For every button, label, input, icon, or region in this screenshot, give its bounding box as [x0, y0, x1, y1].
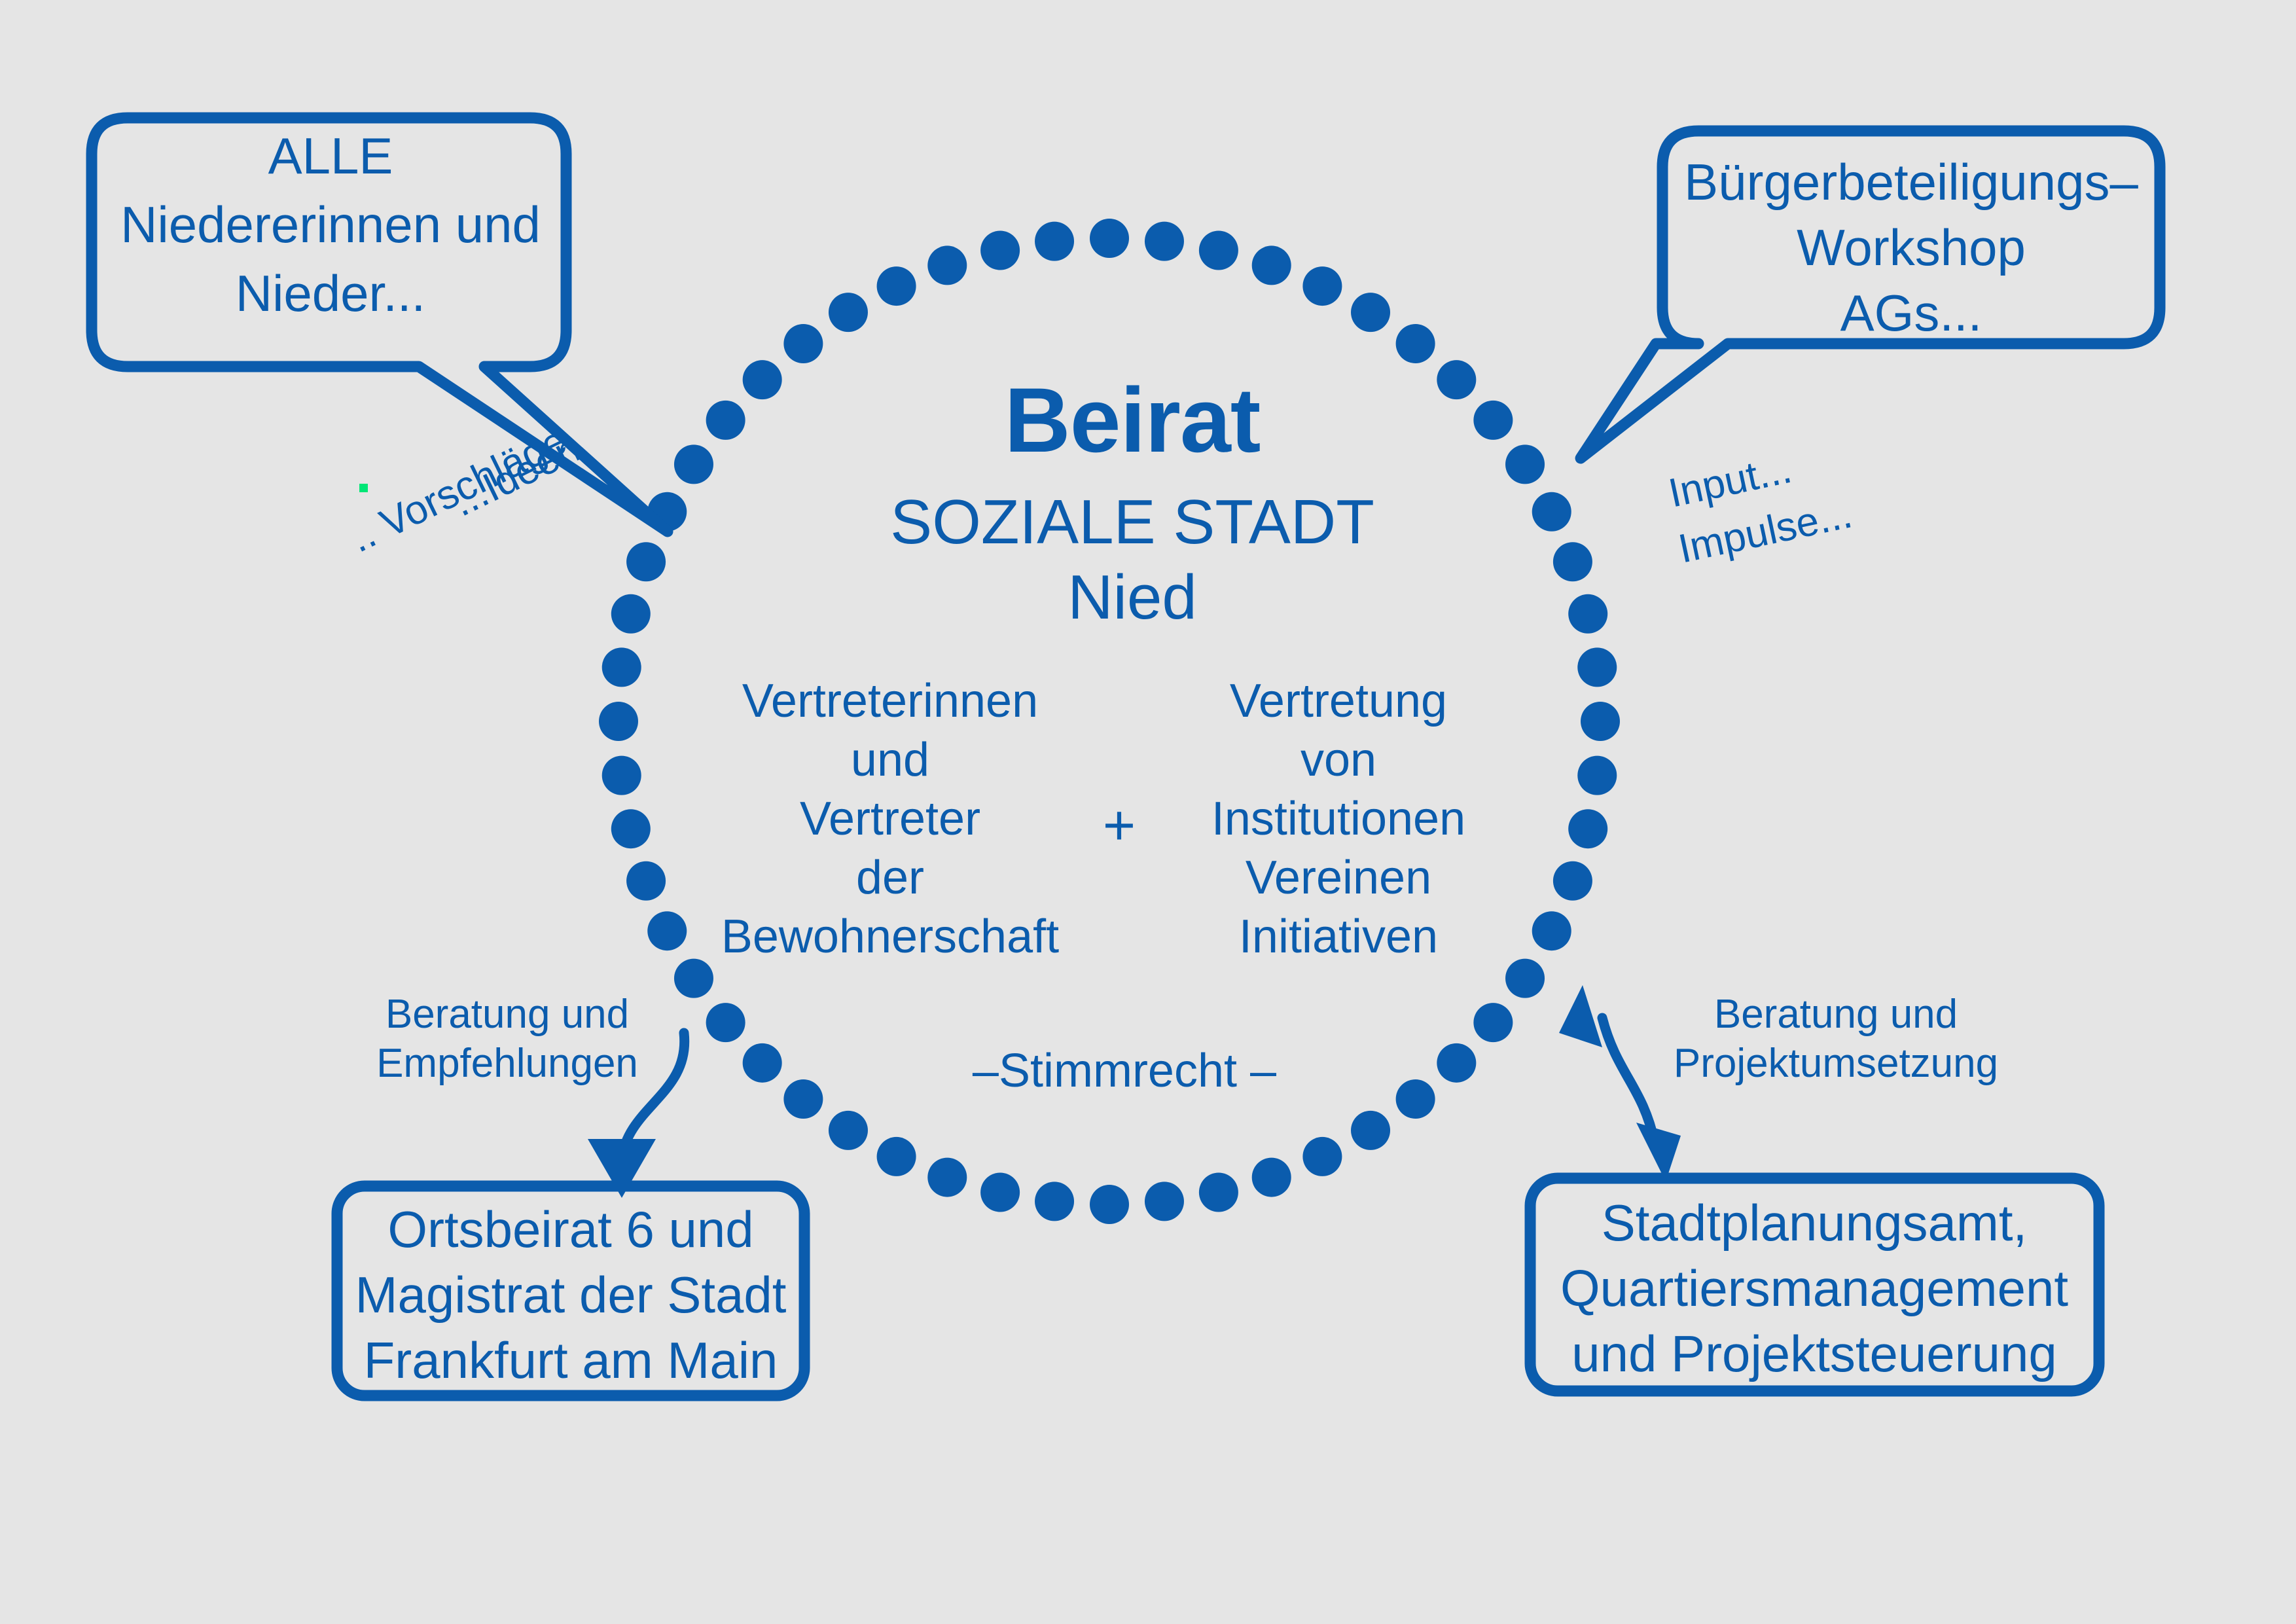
ring-dot [743, 1043, 782, 1083]
ring-dot [602, 647, 641, 687]
stimmrecht-note: –Stimmrecht – [973, 1045, 1277, 1097]
ring-dot [1035, 1182, 1074, 1221]
ring-dot [927, 1158, 967, 1197]
ring-dot [1396, 324, 1435, 363]
label-beratung-empfehlungen-line-2: Empfehlungen [376, 1041, 638, 1086]
ring-dot [1437, 360, 1476, 399]
ring-dot [1437, 1043, 1476, 1083]
right-column-line-3: Institutionen [1211, 793, 1465, 845]
ring-dot [1090, 219, 1129, 258]
ring-dot [1090, 1185, 1129, 1224]
left-column-line-1: Vertreterinnen [742, 675, 1038, 727]
ring-dot [783, 1079, 823, 1119]
ring-dot [743, 360, 782, 399]
ring-dot [1351, 293, 1390, 332]
speech-bubble-buergerbeteiligung[interactable]: Bürgerbeteiligungs– Workshop AGs... [1581, 131, 2160, 458]
box-ortsbeirat-line-1: Ortsbeirat 6 und [387, 1200, 753, 1258]
ring-dot [1035, 222, 1074, 261]
label-beratung-projektumsetzung-line-2: Projektumsetzung [1674, 1041, 1998, 1086]
diagram-canvas: Beirat SOZIALE STADT Nied Vertreterinnen… [0, 0, 2296, 1624]
ring-dot [1145, 1182, 1184, 1221]
ring-dot [1577, 647, 1617, 687]
right-column-line-5: Initiativen [1239, 911, 1438, 963]
ring-dot [980, 1173, 1020, 1212]
center-subtitle-line2: Nied [1067, 562, 1196, 632]
speech-bubble-buergerbeteiligung-line-1: Bürgerbeteiligungs– [1684, 153, 2138, 211]
left-column-line-4: der [856, 852, 924, 904]
ring-dot [1473, 1003, 1513, 1042]
speech-bubble-alle-nieder-line-3: Nieder... [236, 264, 425, 322]
label-beratung-projektumsetzung-line-1: Beratung und [1714, 992, 1958, 1037]
ring-dot [1302, 1137, 1342, 1176]
ring-dot [1252, 245, 1291, 285]
ring-dot [1532, 911, 1571, 950]
ring-dot [674, 959, 713, 998]
left-column-line-3: Vertreter [800, 793, 980, 845]
left-column-line-2: und [851, 734, 929, 786]
ring-dot [626, 542, 666, 581]
plus-operator: + [1103, 794, 1136, 857]
ring-dot [877, 1137, 916, 1176]
ring-dot [829, 293, 868, 332]
ring-dot [611, 594, 651, 634]
ring-dot [783, 324, 823, 363]
ring-dot [599, 702, 638, 741]
ring-dot [1199, 231, 1238, 270]
box-ortsbeirat-line-2: Magistrat der Stadt [355, 1266, 787, 1324]
ring-dot [1199, 1173, 1238, 1212]
box-stadtplanungsamt-line-1: Stadtplanungsamt, [1602, 1194, 2027, 1252]
ring-dot [1568, 809, 1607, 848]
ring-dot [706, 401, 745, 440]
ring-dot [1302, 266, 1342, 306]
ring-dot [1577, 756, 1617, 795]
arrow-beratung-projektumsetzung [1559, 985, 1681, 1182]
ring-dot [1473, 401, 1513, 440]
ring-dot [1145, 222, 1184, 261]
center-subtitle-line1: SOZIALE STADT [890, 487, 1374, 557]
ring-dot [1532, 492, 1571, 532]
right-column-line-4: Vereinen [1246, 852, 1431, 904]
box-stadtplanungsamt-line-3: und Projektsteuerung [1571, 1325, 2057, 1382]
ring-dot [1553, 861, 1592, 901]
ring-dot [1505, 959, 1545, 998]
ring-dot [927, 245, 967, 285]
box-stadtplanungsamt-line-2: Quartiersmanagement [1560, 1259, 2068, 1317]
right-column-line-1: Vertretung [1230, 675, 1447, 727]
box-stadtplanungsamt[interactable]: Stadtplanungsamt, Quartiersmanagement un… [1530, 1178, 2099, 1391]
ring-dot [1553, 542, 1592, 581]
stray-green-pixel [359, 484, 368, 492]
beirat-soziale-stadt-diagram: Beirat SOZIALE STADT Nied Vertreterinnen… [0, 0, 2296, 1624]
speech-bubble-buergerbeteiligung-line-3: AGs... [1840, 284, 1982, 342]
ring-dot [829, 1111, 868, 1150]
ring-dot [706, 1003, 745, 1042]
box-ortsbeirat[interactable]: Ortsbeirat 6 und Magistrat der Stadt Fra… [337, 1186, 804, 1396]
label-vorschlaege: .. Vorschläge [343, 418, 573, 561]
label-beratung-empfehlungen-line-1: Beratung und [386, 992, 629, 1037]
ring-dot [1505, 444, 1545, 484]
ring-dot [626, 861, 666, 901]
ring-dot [611, 809, 651, 848]
arrow-beratung-projektumsetzung-shaft [1602, 1018, 1655, 1142]
ring-dot [1568, 594, 1607, 634]
ring-dot [1396, 1079, 1435, 1119]
right-column-line-2: von [1300, 734, 1376, 786]
ring-dot [647, 911, 687, 950]
arrow-beratung-projektumsetzung-head-up [1559, 985, 1602, 1047]
speech-bubble-alle-nieder[interactable]: ALLE Niedererinnen und Nieder... [92, 118, 668, 532]
ring-dot [1252, 1158, 1291, 1197]
ring-dot [1581, 702, 1620, 741]
speech-bubble-buergerbeteiligung-line-2: Workshop [1797, 219, 2026, 276]
center-title: Beirat [1005, 369, 1261, 471]
speech-bubble-alle-nieder-line-2: Niedererinnen und [120, 196, 541, 253]
ring-dot [674, 444, 713, 484]
left-column-line-5: Bewohnerschaft [721, 911, 1059, 963]
box-ortsbeirat-line-3: Frankfurt am Main [364, 1331, 778, 1389]
ring-dot [602, 756, 641, 795]
speech-bubble-alle-nieder-line-1: ALLE [268, 127, 393, 185]
ring-dot [1351, 1111, 1390, 1150]
ring-dot [877, 266, 916, 306]
ring-dot [980, 231, 1020, 270]
